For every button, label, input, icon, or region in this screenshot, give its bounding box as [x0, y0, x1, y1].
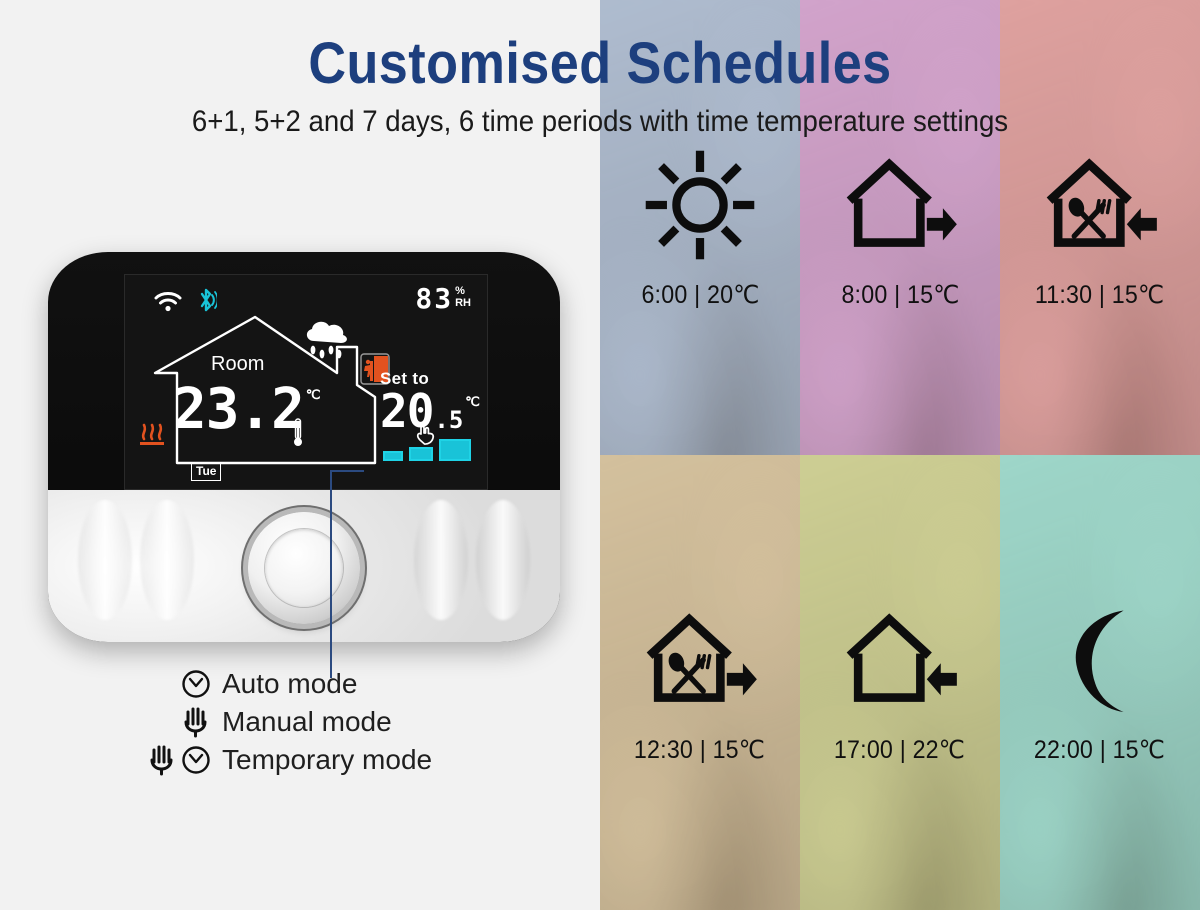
house-leaving-icon	[841, 146, 959, 264]
lcd-screen: 83 % RH Room	[124, 274, 488, 490]
mode-label: Manual mode	[222, 706, 392, 738]
hand-icon	[148, 744, 178, 776]
house-return-icon	[841, 601, 959, 719]
legend-icons	[140, 706, 212, 738]
house-dining-return-icon	[1041, 146, 1159, 264]
page-title: Customised Schedules	[60, 34, 1140, 95]
day-badge: Tue	[191, 462, 221, 481]
legend-row-temporary: Temporary mode	[140, 744, 432, 776]
clock-icon	[180, 668, 212, 700]
house-dining-leaving-icon	[641, 601, 759, 719]
callout-line	[330, 470, 332, 678]
signal-bar-1	[383, 451, 403, 461]
humidity-readout: 83 % RH	[415, 285, 471, 313]
mode-label: Temporary mode	[222, 744, 432, 776]
signal-bar-2	[409, 447, 433, 461]
legend-icons	[140, 668, 212, 700]
hand-icon	[182, 706, 212, 738]
schedule-cell-lunch-leaving[interactable]: 12:30 | 15℃	[600, 455, 800, 910]
schedule-label: 8:00 | 15℃	[841, 280, 959, 310]
schedule-cell-night[interactable]: 22:00 | 15℃	[1000, 455, 1200, 910]
signal-bar-3	[439, 439, 471, 461]
sun-icon	[641, 146, 759, 264]
setpoint-unit: ℃	[465, 394, 480, 410]
schedule-label: 12:30 | 15℃	[634, 735, 765, 765]
device-lower-body	[48, 490, 560, 642]
mode-label: Auto mode	[222, 668, 357, 700]
heating-waves-icon	[137, 415, 167, 449]
legend-row-auto: Auto mode	[140, 668, 432, 700]
schedule-cell-evening-return[interactable]: 17:00 | 22℃	[800, 455, 1000, 910]
legend-row-manual: Manual mode	[140, 706, 432, 738]
room-label: Room	[211, 353, 264, 376]
schedule-label: 22:00 | 15℃	[1034, 735, 1165, 765]
header: Customised Schedules 6+1, 5+2 and 7 days…	[0, 0, 1200, 139]
thermometer-icon	[291, 417, 305, 449]
rain-cloud-icon	[300, 317, 352, 363]
wifi-icon	[153, 289, 183, 313]
humidity-unit: % RH	[455, 285, 471, 309]
control-knob[interactable]	[248, 512, 360, 624]
body-rib	[414, 500, 468, 620]
device-shell: 83 % RH Room	[48, 252, 560, 642]
schedule-label: 6:00 | 20℃	[641, 280, 759, 310]
clock-icon	[180, 744, 212, 776]
bluetooth-icon	[195, 286, 217, 314]
room-temperature-unit: ℃	[306, 387, 321, 403]
callout-elbow	[330, 470, 364, 472]
schedule-label: 11:30 | 15℃	[1035, 280, 1164, 310]
legend-icons	[140, 744, 212, 776]
mode-legend: Auto mode Manual mode Temporary mode	[140, 668, 432, 776]
humidity-rh: RH	[455, 298, 471, 310]
body-rib	[140, 500, 194, 620]
body-rib	[78, 500, 132, 620]
humidity-percent: %	[455, 286, 471, 298]
signal-bars-icon	[383, 439, 471, 461]
body-rib	[476, 500, 530, 620]
thermostat-device: 83 % RH Room	[48, 252, 560, 642]
room-temperature-value: 23.2	[173, 383, 304, 436]
humidity-value: 83	[415, 285, 453, 313]
page-subtitle: 6+1, 5+2 and 7 days, 6 time periods with…	[48, 105, 1152, 139]
schedule-label: 17:00 | 22℃	[834, 735, 965, 765]
moon-icon	[1041, 601, 1159, 719]
